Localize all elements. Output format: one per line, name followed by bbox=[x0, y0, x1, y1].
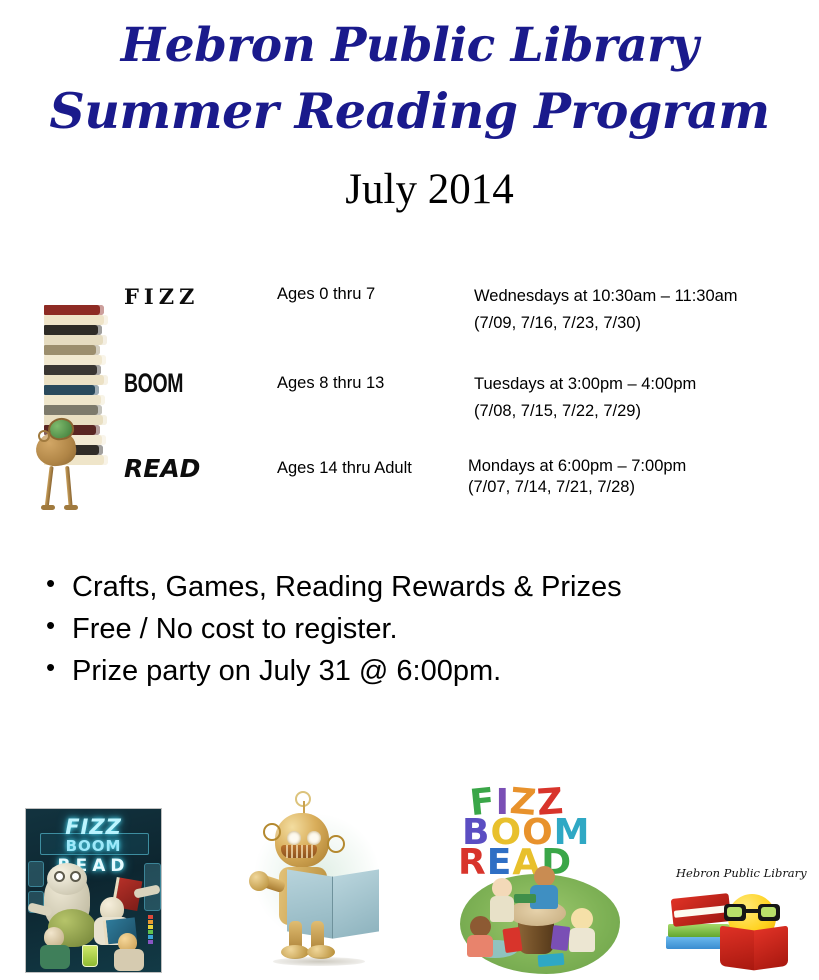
program-time-line: Wednesdays at 10:30am – 11:30am bbox=[474, 283, 738, 310]
brass-robot-eye-left bbox=[287, 831, 301, 845]
fbr-book-red bbox=[502, 927, 522, 953]
list-item: Prize party on July 31 @ 6:00pm. bbox=[46, 650, 786, 692]
hebron-public-library-logo: Hebron Public Library bbox=[662, 866, 812, 976]
brass-robot-shadow bbox=[273, 957, 365, 966]
program-ages-boom: Ages 8 thru 13 bbox=[277, 374, 384, 393]
program-name-boom: BOOM bbox=[124, 368, 183, 399]
fbr-book-green bbox=[514, 894, 536, 903]
program-dates-line: (7/07, 7/14, 7/21, 7/28) bbox=[468, 477, 686, 498]
fizz-boom-read-kids-image: FIZZ BOOM READ bbox=[452, 782, 628, 980]
poster-word-read: READ bbox=[26, 856, 161, 876]
fbr-book-blue bbox=[538, 953, 565, 967]
page-subtitle-month: July 2014 bbox=[0, 168, 819, 211]
program-schedule: FIZZ Ages 0 thru 7 Wednesdays at 10:30am… bbox=[0, 282, 819, 514]
schedule-row-fizz: FIZZ Ages 0 thru 7 Wednesdays at 10:30am… bbox=[0, 282, 819, 368]
brass-robot-reading-image bbox=[245, 795, 400, 975]
program-time-line: Tuesdays at 3:00pm – 4:00pm bbox=[474, 371, 696, 398]
list-item: Crafts, Games, Reading Rewards & Prizes bbox=[46, 566, 786, 608]
page-title-line-1: Hebron Public Library bbox=[0, 0, 819, 69]
logo-open-red-book bbox=[720, 928, 788, 968]
program-name-read: READ bbox=[124, 454, 200, 483]
fizz-boom-read-poster-image: FIZZ BOOM READ bbox=[25, 808, 162, 973]
flyer-page: { "header": { "title_line1": "Hebron Pub… bbox=[0, 0, 819, 980]
program-dates-line: (7/09, 7/16, 7/23, 7/30) bbox=[474, 310, 738, 337]
poster-kid3-body bbox=[114, 949, 144, 971]
logo-caption: Hebron Public Library bbox=[676, 866, 816, 880]
program-time-boom: Tuesdays at 3:00pm – 4:00pm (7/08, 7/15,… bbox=[474, 371, 696, 424]
brass-robot-mouth bbox=[281, 845, 317, 858]
logo-eyeglasses-icon bbox=[724, 904, 780, 921]
poster-robot-head bbox=[47, 863, 87, 895]
schedule-row-boom: BOOM Ages 8 thru 13 Tuesdays at 3:00pm –… bbox=[0, 368, 819, 454]
program-time-read: Mondays at 6:00pm – 7:00pm (7/07, 7/14, … bbox=[468, 456, 686, 497]
brass-robot-monocle-right bbox=[327, 835, 345, 853]
list-item: Free / No cost to register. bbox=[46, 608, 786, 650]
program-name-fizz: FIZZ bbox=[124, 284, 199, 309]
page-title-line-2: Summer Reading Program bbox=[0, 69, 819, 136]
program-time-fizz: Wednesdays at 10:30am – 11:30am (7/09, 7… bbox=[474, 283, 738, 336]
poster-beaker bbox=[82, 945, 98, 967]
poster-kid2-head bbox=[44, 927, 64, 947]
brass-robot-head bbox=[275, 813, 329, 867]
program-time-line: Mondays at 6:00pm – 7:00pm bbox=[468, 456, 686, 477]
program-highlights-list: Crafts, Games, Reading Rewards & Prizes … bbox=[46, 566, 786, 692]
brass-robot-eye-right bbox=[307, 831, 321, 845]
poster-word-fizz: FIZZ bbox=[26, 815, 161, 839]
poster-kid2-body bbox=[40, 945, 70, 969]
program-dates-line: (7/08, 7/15, 7/22, 7/29) bbox=[474, 398, 696, 425]
schedule-row-read: READ Ages 14 thru Adult Mondays at 6:00p… bbox=[0, 454, 819, 514]
program-ages-read: Ages 14 thru Adult bbox=[277, 459, 412, 478]
brass-robot-monocle-left bbox=[263, 823, 281, 841]
brass-robot-shoulder-left bbox=[249, 871, 269, 891]
poster-word-boom: BOOM bbox=[26, 837, 161, 855]
fbr-book-purple bbox=[551, 925, 571, 951]
program-ages-fizz: Ages 0 thru 7 bbox=[277, 285, 375, 304]
header-block: Hebron Public Library Summer Reading Pro… bbox=[0, 0, 819, 211]
